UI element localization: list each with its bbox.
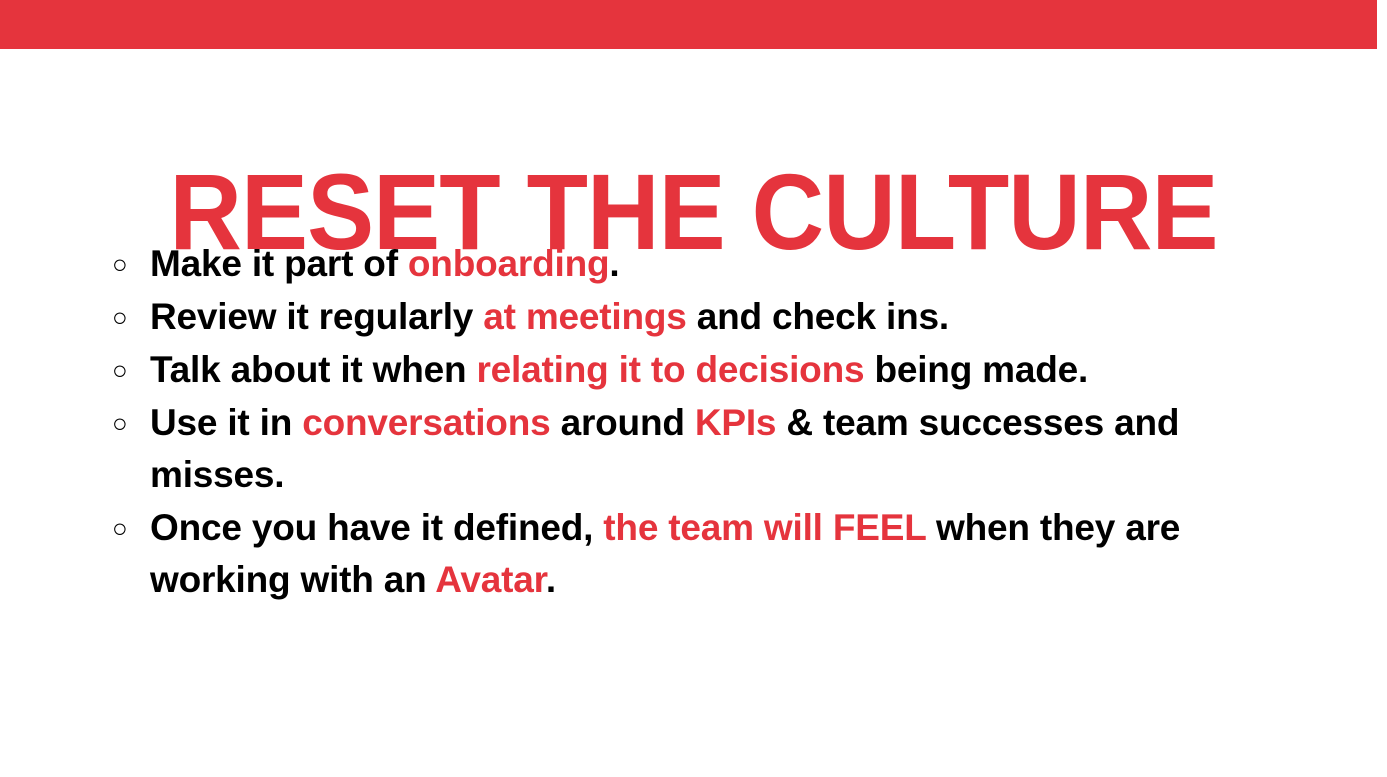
- list-item-text: Make it part of onboarding.: [150, 238, 1304, 290]
- top-accent-bar: [0, 0, 1382, 49]
- bullet-list: ○Make it part of onboarding.○Review it r…: [104, 238, 1304, 607]
- list-item-text: Use it in conversations around KPIs & te…: [150, 397, 1304, 501]
- list-item: ○Use it in conversations around KPIs & t…: [104, 397, 1304, 501]
- bullet-circle-icon: ○: [112, 238, 140, 290]
- plain-phrase: .: [609, 243, 619, 284]
- highlighted-phrase: relating it to decisions: [476, 349, 864, 390]
- plain-phrase: Review it regularly: [150, 296, 483, 337]
- plain-phrase: around: [550, 402, 694, 443]
- bullet-circle-icon: ○: [112, 502, 140, 554]
- highlighted-phrase: at meetings: [483, 296, 686, 337]
- list-item: ○Once you have it defined, the team will…: [104, 502, 1304, 606]
- highlighted-phrase: the team will FEEL: [603, 507, 926, 548]
- list-item: ○Talk about it when relating it to decis…: [104, 344, 1304, 396]
- bullet-circle-icon: ○: [112, 397, 140, 449]
- plain-phrase: .: [546, 559, 556, 600]
- bullet-circle-icon: ○: [112, 344, 140, 396]
- list-item: ○Review it regularly at meetings and che…: [104, 291, 1304, 343]
- highlighted-phrase: Avatar: [435, 559, 546, 600]
- plain-phrase: Once you have it defined,: [150, 507, 603, 548]
- plain-phrase: and check ins.: [687, 296, 949, 337]
- slide-canvas: RESET THE CULTURE ○Make it part of onboa…: [0, 0, 1387, 777]
- top-accent-bar-right-edge: [1377, 0, 1382, 49]
- plain-phrase: being made.: [864, 349, 1088, 390]
- list-item-text: Once you have it defined, the team will …: [150, 502, 1304, 606]
- list-item: ○Make it part of onboarding.: [104, 238, 1304, 290]
- bullet-circle-icon: ○: [112, 291, 140, 343]
- highlighted-phrase: conversations: [302, 402, 550, 443]
- list-item-text: Review it regularly at meetings and chec…: [150, 291, 1304, 343]
- plain-phrase: Make it part of: [150, 243, 408, 284]
- highlighted-phrase: KPIs: [695, 402, 776, 443]
- plain-phrase: Use it in: [150, 402, 302, 443]
- highlighted-phrase: onboarding: [408, 243, 609, 284]
- plain-phrase: Talk about it when: [150, 349, 476, 390]
- list-item-text: Talk about it when relating it to decisi…: [150, 344, 1304, 396]
